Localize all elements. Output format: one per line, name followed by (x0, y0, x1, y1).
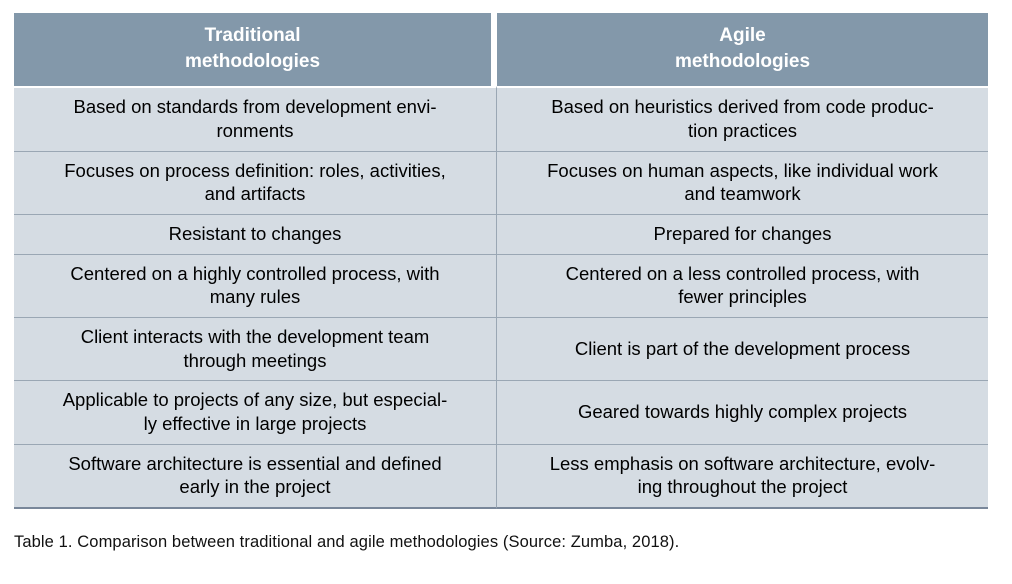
table-row: Based on standards from development envi… (14, 86, 988, 150)
cell-line: through meetings (24, 349, 486, 373)
cell-agile: Geared towards highly complex projects (497, 380, 988, 443)
table-row: Applicable to projects of any size, but … (14, 380, 988, 443)
cell-line: tion practices (507, 119, 978, 143)
cell-agile: Focuses on human aspects, like individua… (497, 151, 988, 214)
cell-traditional: Client interacts with the development te… (14, 317, 497, 380)
cell-line: ing throughout the project (507, 475, 978, 499)
cell-line: Centered on a less controlled process, w… (507, 262, 978, 286)
table-row: Focuses on process definition: roles, ac… (14, 151, 988, 214)
cell-line: Resistant to changes (24, 222, 486, 246)
cell-line: Client interacts with the development te… (24, 325, 486, 349)
cell-line: Client is part of the development proces… (507, 337, 978, 361)
cell-line: Based on heuristics derived from code pr… (507, 95, 978, 119)
cell-agile: Client is part of the development proces… (497, 317, 988, 380)
cell-line: early in the project (24, 475, 486, 499)
column-header-agile: Agile methodologies (497, 13, 988, 86)
comparison-table-container: Traditional methodologies Agile methodol… (14, 13, 988, 509)
cell-line: Geared towards highly complex projects (507, 400, 978, 424)
cell-line: and teamwork (507, 182, 978, 206)
cell-line: Focuses on process definition: roles, ac… (24, 159, 486, 183)
comparison-table: Traditional methodologies Agile methodol… (14, 13, 988, 509)
cell-agile: Centered on a less controlled process, w… (497, 254, 988, 317)
cell-traditional: Resistant to changes (14, 214, 497, 254)
table-row: Resistant to changes Prepared for change… (14, 214, 988, 254)
cell-traditional: Centered on a highly controlled process,… (14, 254, 497, 317)
cell-traditional: Focuses on process definition: roles, ac… (14, 151, 497, 214)
column-header-agile-line1: Agile (719, 25, 765, 46)
table-caption: Table 1. Comparison between traditional … (14, 533, 679, 552)
table-header: Traditional methodologies Agile methodol… (14, 13, 988, 86)
cell-line: ronments (24, 119, 486, 143)
column-header-traditional-line2: methodologies (185, 51, 320, 72)
table-row: Client interacts with the development te… (14, 317, 988, 380)
cell-line: Focuses on human aspects, like individua… (507, 159, 978, 183)
cell-agile: Less emphasis on software architecture, … (497, 444, 988, 509)
cell-line: Based on standards from development envi… (24, 95, 486, 119)
cell-line: many rules (24, 285, 486, 309)
table-header-row: Traditional methodologies Agile methodol… (14, 13, 988, 86)
cell-line: Prepared for changes (507, 222, 978, 246)
cell-agile: Based on heuristics derived from code pr… (497, 86, 988, 150)
table-body: Based on standards from development envi… (14, 86, 988, 509)
cell-traditional: Applicable to projects of any size, but … (14, 380, 497, 443)
column-header-traditional: Traditional methodologies (14, 13, 497, 86)
cell-traditional: Software architecture is essential and d… (14, 444, 497, 509)
column-header-agile-line2: methodologies (675, 51, 810, 72)
cell-line: Software architecture is essential and d… (24, 452, 486, 476)
cell-traditional: Based on standards from development envi… (14, 86, 497, 150)
table-row: Centered on a highly controlled process,… (14, 254, 988, 317)
cell-line: Centered on a highly controlled process,… (24, 262, 486, 286)
document-page: Traditional methodologies Agile methodol… (0, 0, 1012, 584)
cell-line: Applicable to projects of any size, but … (24, 388, 486, 412)
cell-line: Less emphasis on software architecture, … (507, 452, 978, 476)
column-header-traditional-line1: Traditional (204, 25, 300, 46)
cell-agile: Prepared for changes (497, 214, 988, 254)
cell-line: fewer principles (507, 285, 978, 309)
cell-line: ly effective in large projects (24, 412, 486, 436)
cell-line: and artifacts (24, 182, 486, 206)
table-row: Software architecture is essential and d… (14, 444, 988, 509)
